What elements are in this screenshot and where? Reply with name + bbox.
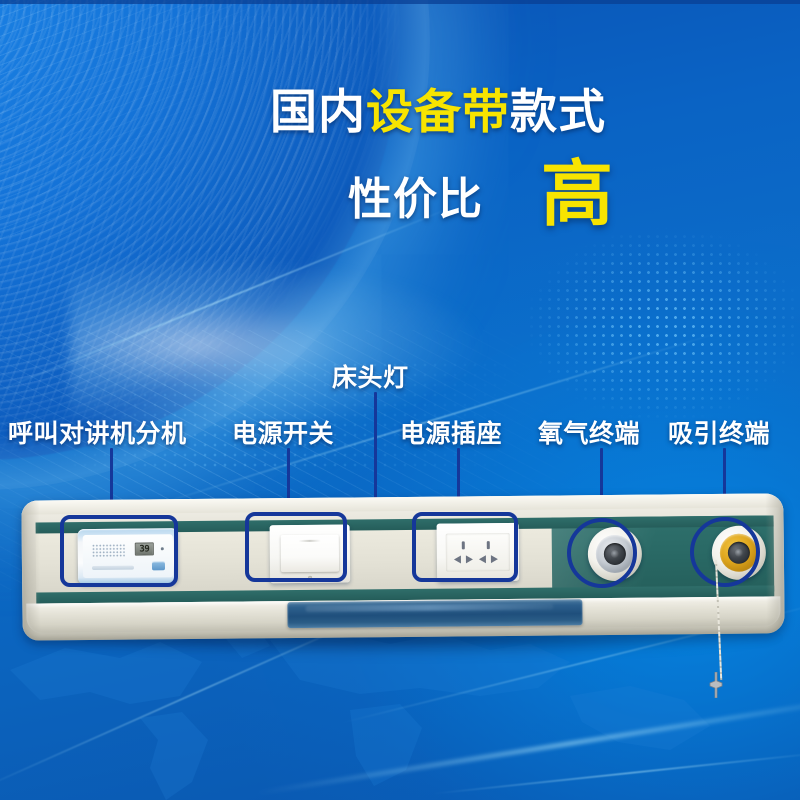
suction-terminal-outlet[interactable]	[712, 526, 767, 581]
socket-pin-slot-1	[462, 541, 465, 549]
callout-label-power-socket: 电源插座	[400, 414, 502, 450]
socket-angled-slot-1	[454, 555, 461, 563]
bed-head-lamp-diffuser[interactable]	[287, 599, 582, 628]
suction-port-pin	[735, 549, 743, 557]
oxygen-port-core	[604, 543, 626, 565]
power-socket-unit[interactable]	[437, 523, 520, 582]
callout-label-oxygen-terminal: 氧气终端	[538, 414, 640, 450]
oxygen-terminal-outlet[interactable]	[588, 527, 643, 582]
intercom-indicator-led	[161, 547, 164, 550]
nurse-call-intercom-unit[interactable]: 39	[78, 528, 179, 584]
intercom-mic-slot	[92, 566, 134, 570]
suction-port-core	[728, 542, 750, 564]
socket-angled-slot-3	[479, 555, 486, 563]
intercom-call-button[interactable]	[152, 561, 165, 570]
panel-end-cap-left	[21, 500, 48, 640]
callout-label-bed-head-lamp: 床头灯	[332, 358, 409, 394]
callout-label-nurse-call-intercom: 呼叫对讲机分机	[8, 414, 187, 450]
intercom-faceplate: 39	[83, 534, 173, 578]
pull-cord-weight-icon[interactable]	[706, 672, 726, 698]
power-switch-unit[interactable]	[270, 525, 351, 584]
poster-canvas: 国内设备带款式 性价比 高 呼叫对讲机分机 电源开关 床头灯 电源插座 氧气终端…	[0, 0, 800, 800]
socket-angled-slot-4	[491, 555, 498, 563]
hospital-bed-head-unit: 39	[21, 493, 784, 640]
switch-screw	[308, 576, 312, 580]
speaker-grille-icon	[92, 544, 125, 557]
oxygen-port-pin	[611, 550, 619, 558]
callout-layer: 呼叫对讲机分机 电源开关 床头灯 电源插座 氧气终端 吸引终端	[0, 0, 800, 800]
socket-angled-slot-2	[466, 555, 473, 563]
callout-label-suction-terminal: 吸引终端	[668, 414, 770, 450]
callout-label-power-switch: 电源开关	[232, 414, 334, 450]
panel-body: 39	[21, 493, 784, 640]
socket-faceplate	[446, 533, 510, 572]
rocker-switch-icon[interactable]	[281, 535, 339, 573]
intercom-display: 39	[135, 542, 154, 555]
socket-pin-slot-2	[487, 541, 490, 549]
